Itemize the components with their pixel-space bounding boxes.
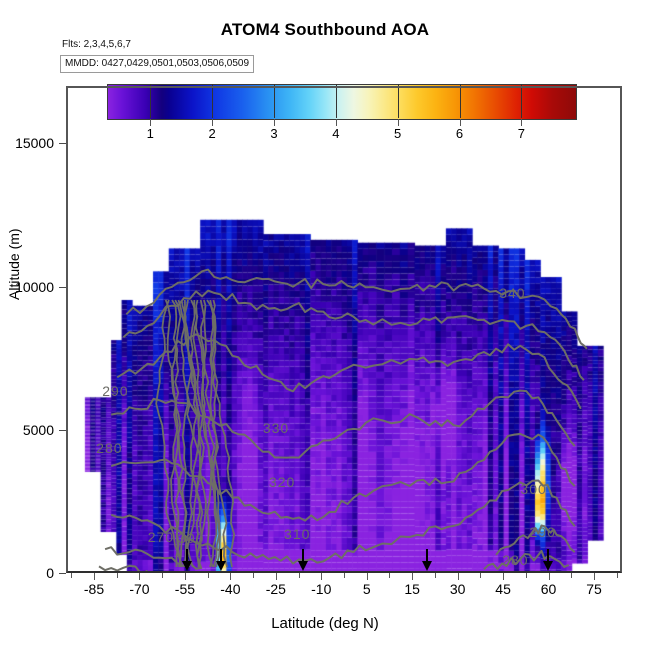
- y-axis-tick-label: 0: [46, 565, 54, 581]
- x-axis-tick: [230, 573, 231, 580]
- x-axis-minor-tick: [571, 573, 572, 578]
- profile-markers: [66, 86, 622, 573]
- x-axis-tick: [367, 573, 368, 580]
- x-axis-tick-label: -25: [266, 581, 286, 597]
- profile-marker-arrow: [543, 549, 554, 571]
- x-axis-minor-tick: [389, 573, 390, 578]
- x-axis-minor-tick: [344, 573, 345, 578]
- x-axis-tick-label: 45: [495, 581, 511, 597]
- x-axis-tick: [503, 573, 504, 580]
- x-axis-tick: [458, 573, 459, 580]
- x-axis-minor-tick: [71, 573, 72, 578]
- y-axis-tick: [59, 287, 66, 288]
- flights-annotation: Flts: 2,3,4,5,6,7: [62, 39, 131, 50]
- y-axis-title: Altitude (m): [6, 228, 22, 300]
- x-axis-minor-tick: [162, 573, 163, 578]
- profile-marker-arrow: [298, 549, 309, 571]
- x-axis-minor-tick: [480, 573, 481, 578]
- y-axis-tick: [59, 573, 66, 574]
- plot-page: ATOM4 Southbound AOA Flts: 2,3,4,5,6,7 M…: [0, 0, 650, 650]
- plot-area: 050001000015000 -85-70-55-40-25-10515304…: [66, 86, 622, 573]
- x-axis-tick-label: 30: [450, 581, 466, 597]
- x-axis-tick-label: -40: [220, 581, 240, 597]
- x-axis-tick-label: 5: [363, 581, 371, 597]
- x-axis-tick-label: -10: [311, 581, 331, 597]
- x-axis-tick-label: 60: [541, 581, 557, 597]
- x-axis-tick-label: 75: [586, 581, 602, 597]
- page-title: ATOM4 Southbound AOA: [0, 20, 650, 40]
- x-axis-tick: [276, 573, 277, 580]
- x-axis-tick-label: 15: [404, 581, 420, 597]
- x-axis-tick-label: -70: [129, 581, 149, 597]
- y-axis-tick: [59, 430, 66, 431]
- x-axis-tick: [185, 573, 186, 580]
- mmdd-annotation-box: MMDD: 0427,0429,0501,0503,0506,0509: [60, 55, 254, 73]
- y-axis-tick: [59, 143, 66, 144]
- y-axis-tick-label: 5000: [23, 422, 54, 438]
- y-axis-tick-label: 15000: [15, 135, 54, 151]
- profile-marker-arrow: [216, 549, 227, 571]
- x-axis-tick: [549, 573, 550, 580]
- x-axis-tick: [594, 573, 595, 580]
- profile-marker-arrow: [422, 549, 433, 571]
- x-axis-minor-tick: [435, 573, 436, 578]
- x-axis-tick: [139, 573, 140, 580]
- x-axis-minor-tick: [208, 573, 209, 578]
- x-axis-title: Latitude (deg N): [0, 615, 650, 632]
- profile-marker-arrow: [182, 549, 193, 571]
- x-axis-minor-tick: [617, 573, 618, 578]
- x-axis-tick-label: -55: [175, 581, 195, 597]
- x-axis-tick-label: -85: [84, 581, 104, 597]
- x-axis-tick: [94, 573, 95, 580]
- x-axis-minor-tick: [253, 573, 254, 578]
- x-axis-tick: [412, 573, 413, 580]
- x-axis-minor-tick: [117, 573, 118, 578]
- x-axis-minor-tick: [526, 573, 527, 578]
- x-axis-minor-tick: [299, 573, 300, 578]
- x-axis-tick: [321, 573, 322, 580]
